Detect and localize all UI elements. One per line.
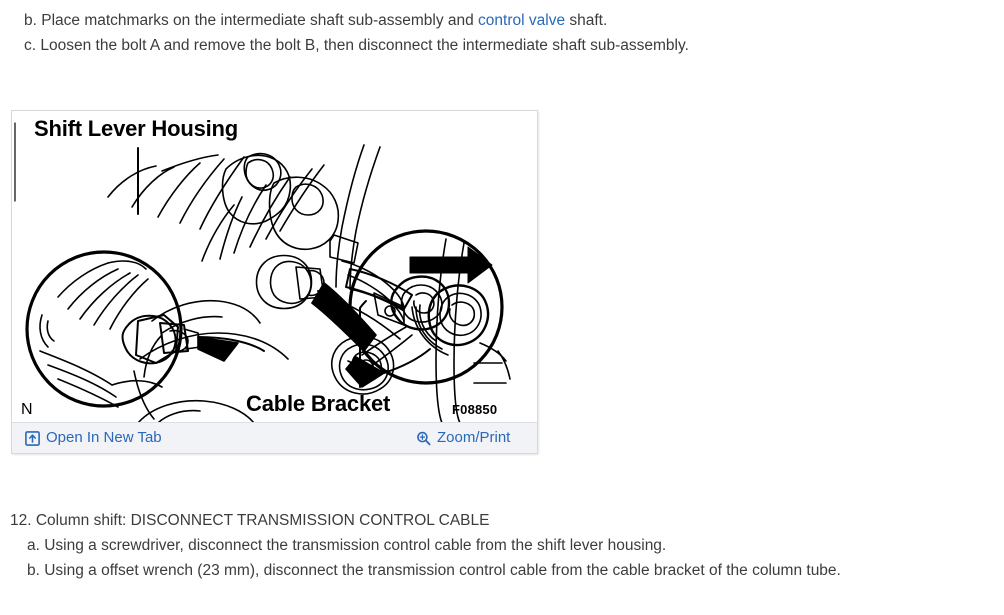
instruction-step-12a: a. Using a screwdriver, disconnect the t… [0,533,1004,558]
figure-toolbar: Open In New Tab Zoom/Print [12,422,537,453]
open-in-new-tab-icon [25,431,40,446]
diagram-figure-code: F08850 [452,402,497,417]
instruction-step-12b: b. Using a offset wrench (23 mm), discon… [0,558,1004,583]
top-instructions: b. Place matchmarks on the intermediate … [0,8,1004,58]
step-b-prefix: b. [24,12,37,29]
open-in-new-tab-button[interactable]: Open In New Tab [25,428,162,448]
diagram-line-art [12,111,537,422]
zoom-print-button[interactable]: Zoom/Print [416,428,510,448]
bottom-instructions: 12. Column shift: DISCONNECT TRANSMISSIO… [0,508,1004,583]
magnifier-plus-icon [416,431,431,446]
instruction-step-c: c. Loosen the bolt A and remove the bolt… [0,33,1004,58]
step-b-text-before: Place matchmarks on the intermediate sha… [41,12,478,29]
instruction-step-b: b. Place matchmarks on the intermediate … [0,8,1004,33]
diagram-label-shift-lever-housing: Shift Lever Housing [34,116,238,142]
diagram-corner-mark: N [21,401,33,419]
step-c-text: Loosen the bolt A and remove the bolt B,… [40,37,689,54]
figure-card: Shift Lever Housing Cable Bracket N F088… [11,110,538,454]
open-in-new-tab-label: Open In New Tab [46,428,162,448]
instruction-step-12: 12. Column shift: DISCONNECT TRANSMISSIO… [0,508,1004,533]
step-c-prefix: c. [24,37,36,54]
step-b-text-after: shaft. [565,12,607,29]
technical-diagram[interactable]: Shift Lever Housing Cable Bracket N F088… [12,111,537,422]
diagram-label-cable-bracket: Cable Bracket [246,391,390,417]
control-valve-link[interactable]: control valve [478,12,565,29]
zoom-print-label: Zoom/Print [437,428,510,448]
